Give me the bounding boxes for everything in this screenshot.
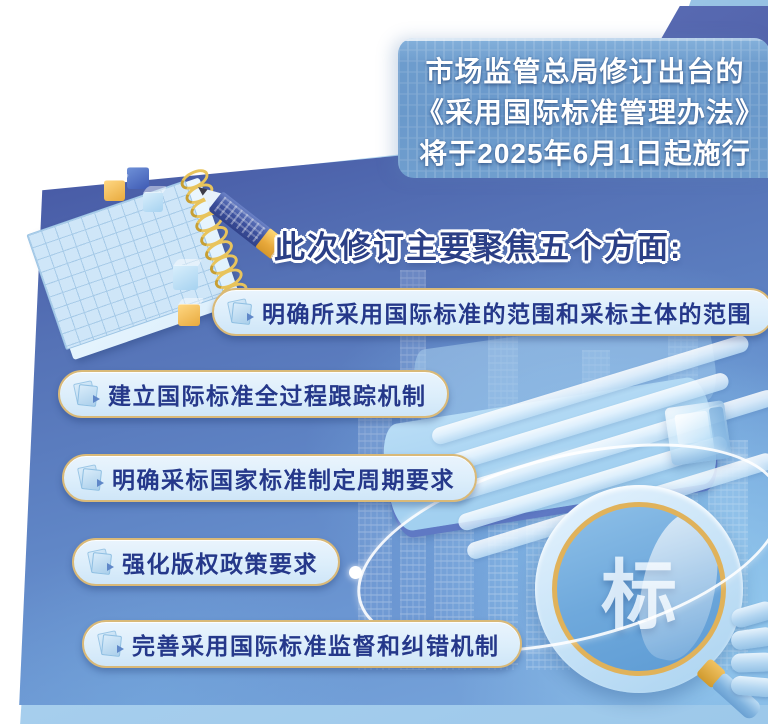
point-pill-3-label: 明确采标国家标准制定周期要求: [112, 461, 455, 495]
point-pill-2-label: 建立国际标准全过程跟踪机制: [108, 377, 427, 411]
point-pill-4-label: 强化版权政策要求: [122, 545, 318, 579]
document-arrow-icon: [88, 550, 113, 574]
document-arrow-icon: [74, 382, 99, 406]
robot-hand: [731, 605, 768, 715]
document-arrow-icon: [228, 300, 253, 324]
point-pill-3: 明确采标国家标准制定周期要求: [62, 454, 477, 502]
cube-decoration: [178, 304, 200, 326]
orbit-dot-decoration: [349, 566, 362, 579]
cube-decoration: [173, 265, 198, 290]
cube-decoration: [127, 167, 149, 189]
point-pill-2: 建立国际标准全过程跟踪机制: [58, 370, 449, 418]
point-pill-4: 强化版权政策要求: [72, 538, 340, 586]
subtitle-heading: 此次修订主要聚焦五个方面:: [274, 222, 682, 267]
cube-decoration: [143, 192, 163, 212]
document-arrow-icon: [78, 466, 103, 490]
infographic-poster: 标: [0, 0, 768, 724]
point-pill-5: 完善采用国际标准监督和纠错机制: [82, 620, 522, 668]
point-pill-5-label: 完善采用国际标准监督和纠错机制: [132, 627, 500, 661]
point-pill-1-label: 明确所采用国际标准的范围和采标主体的范围: [262, 295, 752, 329]
title-line-2: 《采用国际标准管理办法》: [416, 92, 754, 133]
title-line-1: 市场监管总局修订出台的: [416, 51, 754, 92]
point-pill-1: 明确所采用国际标准的范围和采标主体的范围: [212, 288, 768, 336]
document-arrow-icon: [98, 632, 123, 656]
title-text-block: 市场监管总局修订出台的 《采用国际标准管理办法》 将于2025年6月1日起施行: [398, 38, 768, 174]
title-line-3: 将于2025年6月1日起施行: [416, 133, 754, 174]
cube-decoration: [104, 180, 125, 201]
title-banner: 市场监管总局修订出台的 《采用国际标准管理办法》 将于2025年6月1日起施行: [398, 38, 768, 178]
